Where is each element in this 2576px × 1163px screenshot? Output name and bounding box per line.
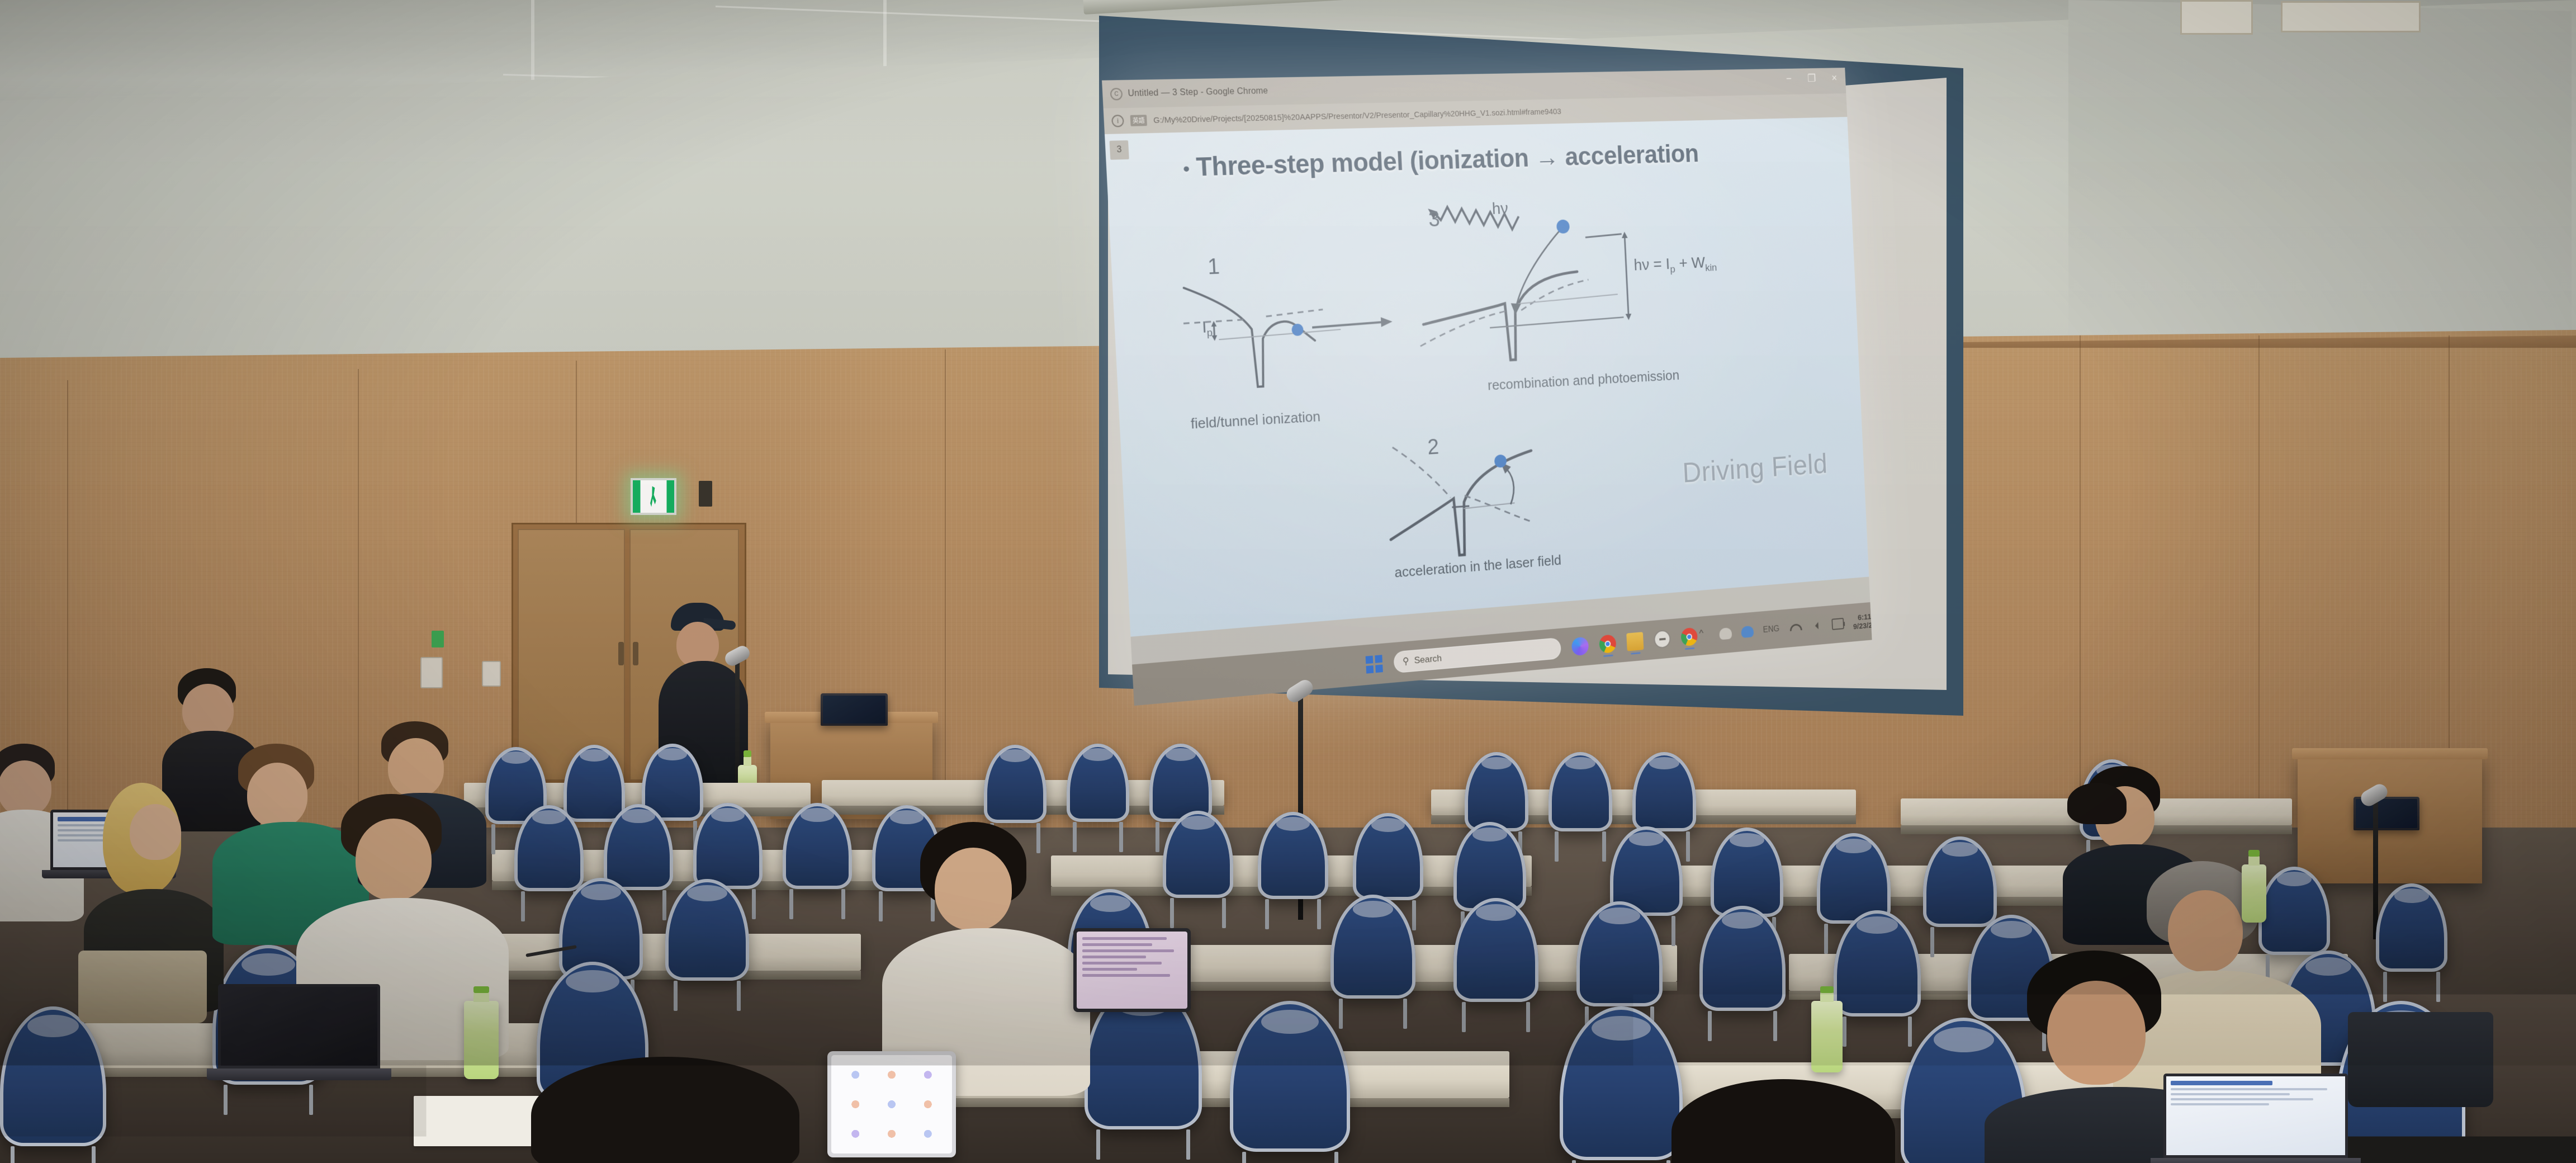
audience-person [1671,1079,1912,1163]
wall-poster [2281,1,2421,32]
language-indicator[interactable]: ENG [1763,625,1779,635]
clock-date: 9/23/2025 [1853,620,1872,632]
energy-equation: hν = Ip + Wkin [1633,253,1717,277]
backpack [2348,1012,2493,1107]
wall-panel-seam [2080,335,2081,811]
tablet[interactable] [827,1051,956,1157]
step-1-caption: field/tunnel ionization [1190,408,1320,433]
window-title: Untitled — 3 Step - Google Chrome [1128,86,1268,99]
step-1-number: 1 [1207,254,1220,280]
head [130,804,181,860]
search-input[interactable]: ⚲ Search [1393,637,1561,673]
step-2-number: 2 [1427,435,1440,460]
exit-sign-icon [631,478,676,515]
bottle [2242,864,2266,923]
audience-person [894,822,1079,1090]
credential-manager-icon[interactable] [1654,630,1671,649]
head [935,848,1012,930]
head [182,684,234,737]
tray-overflow-icon[interactable] [1697,630,1710,642]
slide-title-text: Three-step model (ionization → accelerat… [1195,140,1699,182]
driving-field-watermark: Driving Field [1682,447,1828,489]
hair [531,1057,799,1163]
paper [414,1096,542,1146]
ip-annotation: Ip [1202,318,1213,339]
window-controls[interactable]: − ❐ × [1786,73,1838,84]
wall-panel-seam [2258,335,2260,811]
system-tray[interactable]: ENG 6:11 PM 9/23/2025 [1697,609,1872,645]
laptop[interactable] [218,984,380,1101]
wall-panel-seam [2449,335,2450,811]
wall-poster [2180,0,2253,35]
wall-plate [482,661,501,687]
door-handle[interactable] [633,642,638,665]
battery-icon[interactable] [1831,618,1844,630]
step-3-number: 3 [1428,207,1441,232]
audience-person [2057,783,2152,906]
head [0,760,51,816]
cloud-icon[interactable] [1719,627,1732,640]
frame-tab-indicator[interactable]: 3 [1110,140,1129,160]
slide-canvas: 3 • Three-step model (ionization → accel… [1105,117,1869,637]
clock-time: 6:11 PM [1858,611,1872,622]
wall-panel-seam [945,349,946,808]
lecture-hall-photo: C Untitled — 3 Step - Google Chrome − ❐ … [0,0,2576,1163]
info-icon[interactable]: i [1111,115,1124,127]
onedrive-icon[interactable] [1741,626,1754,638]
ceiling-seam [883,0,887,67]
projection-screen: C Untitled — 3 Step - Google Chrome − ❐ … [1096,0,1968,724]
chrome-icon[interactable] [1599,634,1616,654]
wall-plate [420,657,443,688]
wall-switch[interactable] [699,481,712,507]
laptop[interactable] [2163,1074,2348,1163]
hv-label: hν [1491,200,1508,218]
head [356,819,432,900]
title-bullet: • [1182,158,1190,179]
maximize-button[interactable]: ❐ [1807,73,1816,84]
head [388,738,444,797]
door-leaf[interactable] [518,529,625,781]
bottle [464,1001,499,1079]
ceiling-seam [531,0,534,89]
language-icon[interactable]: 英語 [1130,115,1147,126]
minimize-button[interactable]: − [1786,74,1792,84]
handbag [78,951,207,1023]
laptop-screen [2163,1074,2348,1158]
close-button[interactable]: × [1831,73,1838,84]
start-button-icon[interactable] [1366,655,1383,674]
projected-desktop: C Untitled — 3 Step - Google Chrome − ❐ … [1102,68,1872,706]
volume-icon[interactable] [1810,620,1823,632]
head [247,763,307,828]
tablet[interactable] [1073,928,1191,1012]
indicator-light [432,631,444,647]
chrome-icon: C [1110,88,1123,100]
search-icon: ⚲ [1403,656,1409,667]
head [2047,981,2146,1085]
copilot-icon[interactable] [1571,637,1589,656]
wifi-icon[interactable] [1788,622,1801,634]
url-text[interactable]: G:/My%20Drive/Projects/[20250815]%20AAPP… [1153,107,1561,125]
chrome-icon[interactable] [1680,627,1698,646]
laptop-on-podium[interactable] [821,693,888,726]
clock[interactable]: 6:11 PM 9/23/2025 [1853,611,1872,631]
door-handle[interactable] [618,642,624,665]
hair [1671,1079,1895,1163]
search-placeholder: Search [1414,653,1442,666]
screen-roller [1083,0,1977,15]
hair [2067,783,2127,824]
slide-title: • Three-step model (ionization → acceler… [1182,139,1699,183]
bottle [1811,1001,1843,1072]
laptop-screen [218,984,380,1069]
audience-person [531,1057,822,1163]
file-explorer-icon[interactable] [1626,632,1644,651]
microphone-stand [2373,800,2378,939]
step3-diagram [1407,183,1723,392]
